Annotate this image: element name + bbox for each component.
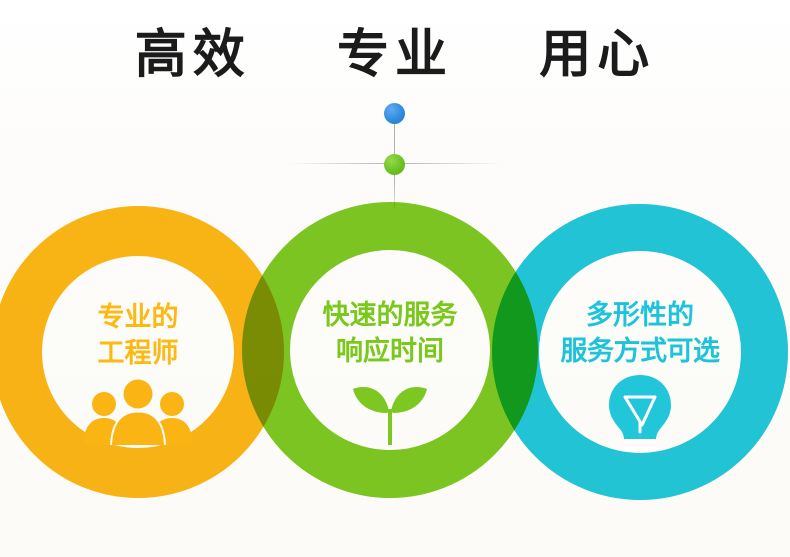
circle-content-response-time: 快速的服务 响应时间 (290, 298, 490, 447)
circle-content-engineers: 专业的 工程师 (38, 300, 238, 445)
engineers-line-1: 专业的 (38, 300, 238, 336)
lightbulb-icon (601, 373, 679, 457)
venn-rings (0, 0, 790, 557)
infographic-canvas: 高效 专业 用心 专业的 工程师 (0, 0, 790, 557)
circle-content-service-options: 多形性的 服务方式可选 (532, 298, 748, 457)
sprout-icon (335, 373, 445, 447)
service-options-line-1: 多形性的 (532, 298, 748, 334)
response-time-line-1: 快速的服务 (290, 298, 490, 334)
three-people-icon (82, 375, 194, 445)
engineers-line-2: 工程师 (38, 336, 238, 372)
response-time-line-2: 响应时间 (290, 334, 490, 370)
service-options-line-2: 服务方式可选 (532, 334, 748, 370)
